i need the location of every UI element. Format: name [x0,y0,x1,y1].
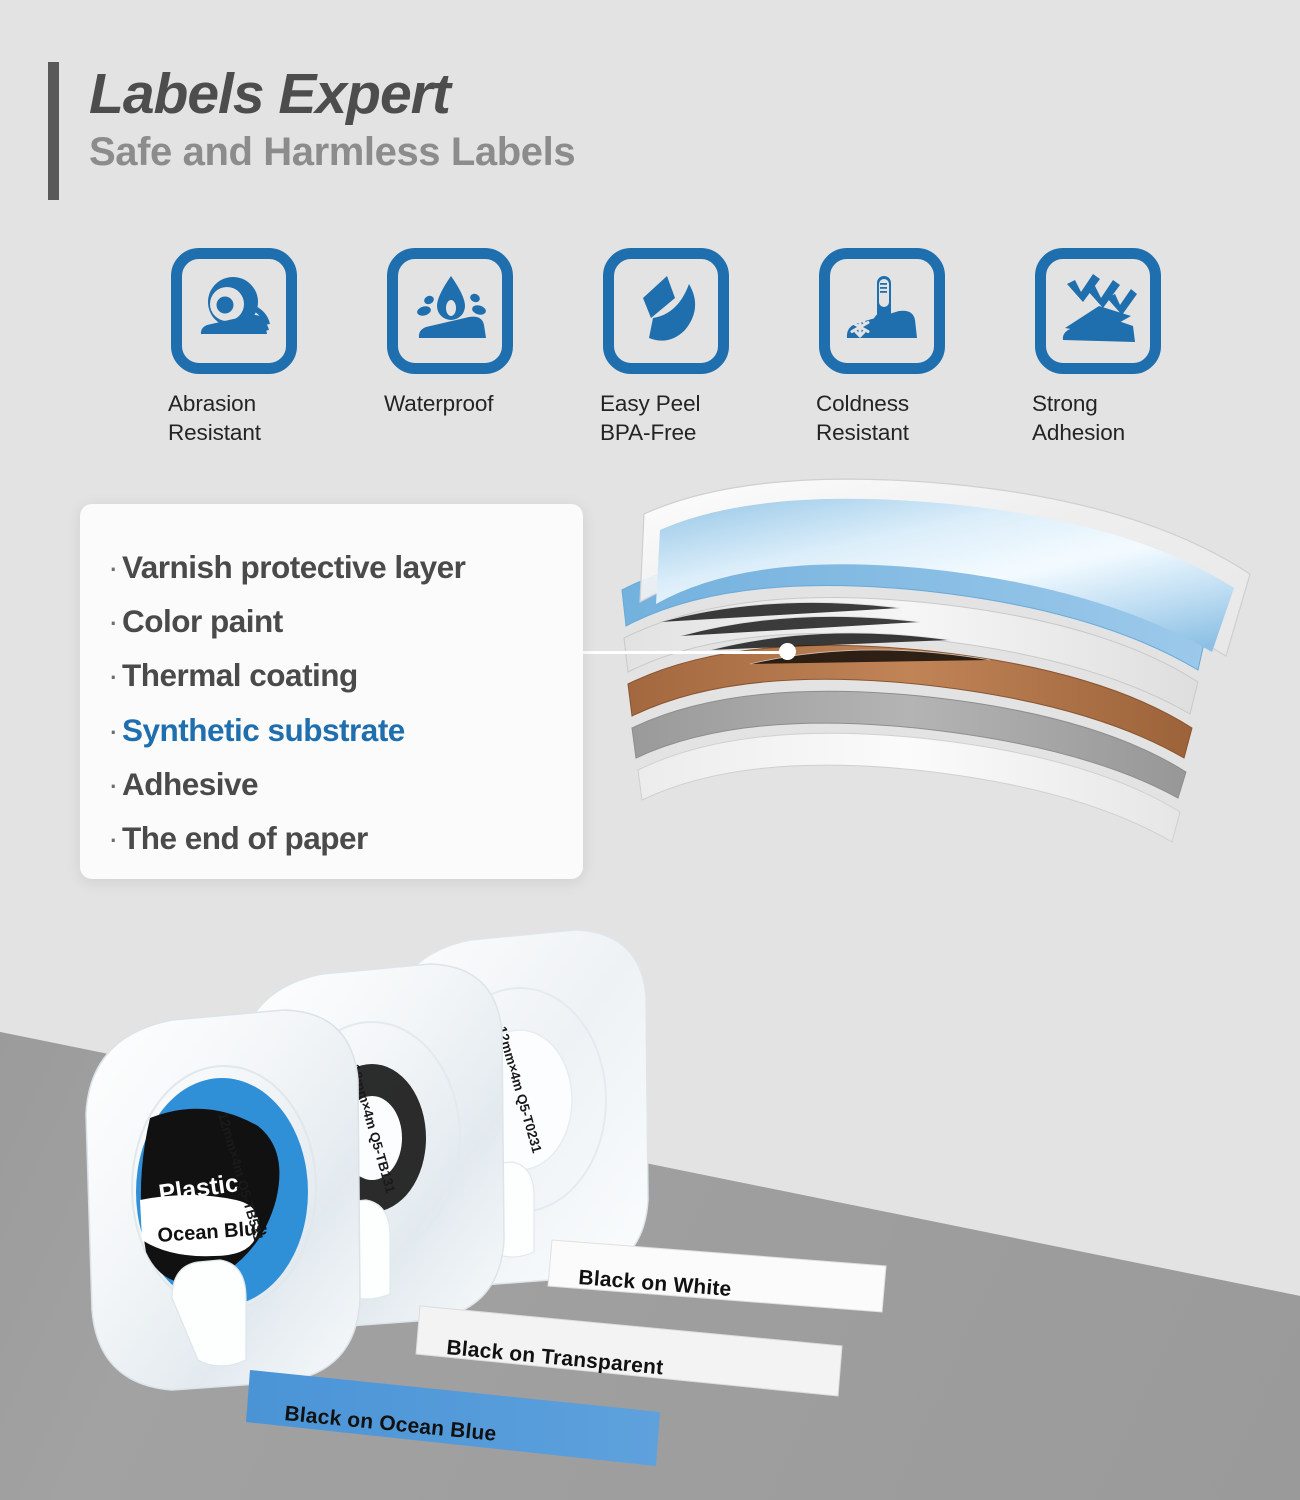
layer-item: ·Thermal coating [108,648,583,702]
bullet-dot-icon: · [108,657,118,693]
product-photo-group: 12mm×4m Q5-T0231 12mm×4m Q5-TB131 [0,900,1300,1500]
header-text-group: Labels Expert Safe and Harmless Labels [89,62,575,200]
feature-list: Abrasion Resistant Waterproof [0,248,1300,448]
leader-line-endpoint-dot [779,643,796,660]
layer-stack-diagram [620,470,1280,960]
layer-item: ·Varnish protective layer [108,540,583,594]
page-title: Labels Expert [89,64,575,124]
checkmarks-adhesion-icon [1055,268,1141,354]
leader-line-stroke [583,651,788,654]
peeling-label-icon [623,268,709,354]
layer-item: ·Color paint [108,594,583,648]
tape-roll-abrasion-icon [191,268,277,354]
layer-name: Adhesive [122,766,258,802]
bullet-dot-icon: · [108,712,118,748]
bullet-dot-icon: · [108,549,118,585]
layer-name: Synthetic substrate [122,712,405,748]
feature-label: Easy Peel BPA-Free [600,390,700,448]
layer-name: The end of paper [122,820,368,856]
feature-coldness-resistant: Coldness Resistant [816,248,1032,448]
feature-label: Abrasion Resistant [168,390,261,448]
feature-abrasion-resistant: Abrasion Resistant [168,248,384,448]
layer-item-highlighted: ·Synthetic substrate [108,703,583,757]
feature-label: Waterproof [384,390,493,419]
feature-strong-adhesion: Strong Adhesion [1032,248,1248,448]
layer-name: Varnish protective layer [122,549,465,585]
page-subtitle: Safe and Harmless Labels [89,130,575,175]
header-accent-bar [48,62,59,200]
feature-easy-peel: Easy Peel BPA-Free [600,248,816,448]
feature-label: Coldness Resistant [816,390,909,448]
feature-badge [603,248,729,374]
header: Labels Expert Safe and Harmless Labels [48,62,575,200]
feature-badge [819,248,945,374]
tape-black-on-transparent: Black on Transparent [416,1306,842,1396]
layer-item: ·Adhesive [108,757,583,811]
feature-badge [1035,248,1161,374]
feature-waterproof: Waterproof [384,248,600,448]
layer-name: Color paint [122,603,283,639]
feature-badge [387,248,513,374]
bullet-dot-icon: · [108,603,118,639]
layer-item: ·The end of paper [108,811,583,865]
tape-black-on-ocean-blue: Black on Ocean Blue [246,1370,660,1466]
thermometer-snowflake-icon [839,268,925,354]
bullet-dot-icon: · [108,766,118,802]
layer-callout-box: ·Varnish protective layer ·Color paint ·… [80,504,583,879]
cartridge-front-ocean-blue: Plastic Ocean Blue 12mm×4m Q5-TB531 [86,1010,360,1390]
tape-black-on-white: Black on White [548,1240,886,1312]
callout-leader-line [583,648,805,655]
layer-name: Thermal coating [122,657,358,693]
bullet-dot-icon: · [108,820,118,856]
feature-badge [171,248,297,374]
water-drop-splash-icon [407,268,493,354]
feature-label: Strong Adhesion [1032,390,1125,448]
infographic-stage: Labels Expert Safe and Harmless Labels [0,0,1300,1500]
